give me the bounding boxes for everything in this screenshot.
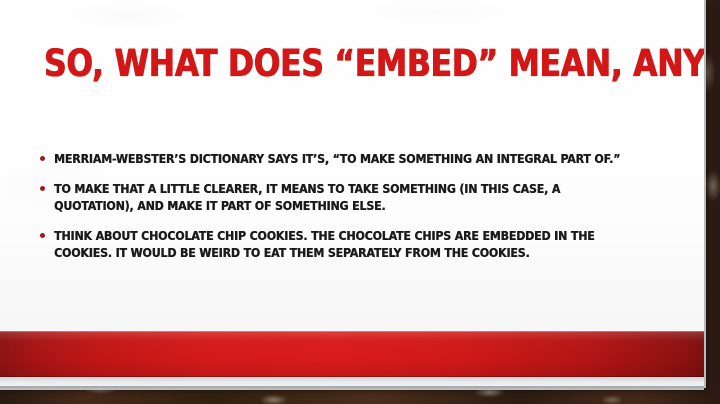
slide-body-bullet-list: MERRIAM-WEBSTER’S DICTIONARY SAYS IT’S, … <box>40 150 650 274</box>
list-item: MERRIAM-WEBSTER’S DICTIONARY SAYS IT’S, … <box>40 150 650 167</box>
bullet-dot-icon <box>40 186 45 191</box>
bullet-text: MERRIAM-WEBSTER’S DICTIONARY SAYS IT’S, … <box>54 150 632 167</box>
list-item: THINK ABOUT CHOCOLATE CHIP COOKIES. THE … <box>40 227 650 261</box>
bullet-dot-icon <box>40 156 45 161</box>
slide-canvas: SO, WHAT DOES “EMBED” MEAN, ANYWAY? MERR… <box>0 0 704 388</box>
bullet-text: TO MAKE THAT A LITTLE CLEARER, IT MEANS … <box>54 180 632 214</box>
slide-bottom-border <box>0 386 704 388</box>
bullet-text: THINK ABOUT CHOCOLATE CHIP COOKIES. THE … <box>54 227 632 261</box>
slide-accent-band <box>0 331 704 377</box>
bullet-dot-icon <box>40 233 45 238</box>
presentation-stage: SO, WHAT DOES “EMBED” MEAN, ANYWAY? MERR… <box>0 0 720 404</box>
list-item: TO MAKE THAT A LITTLE CLEARER, IT MEANS … <box>40 180 650 214</box>
slide-title: SO, WHAT DOES “EMBED” MEAN, ANYWAY? <box>44 44 631 84</box>
